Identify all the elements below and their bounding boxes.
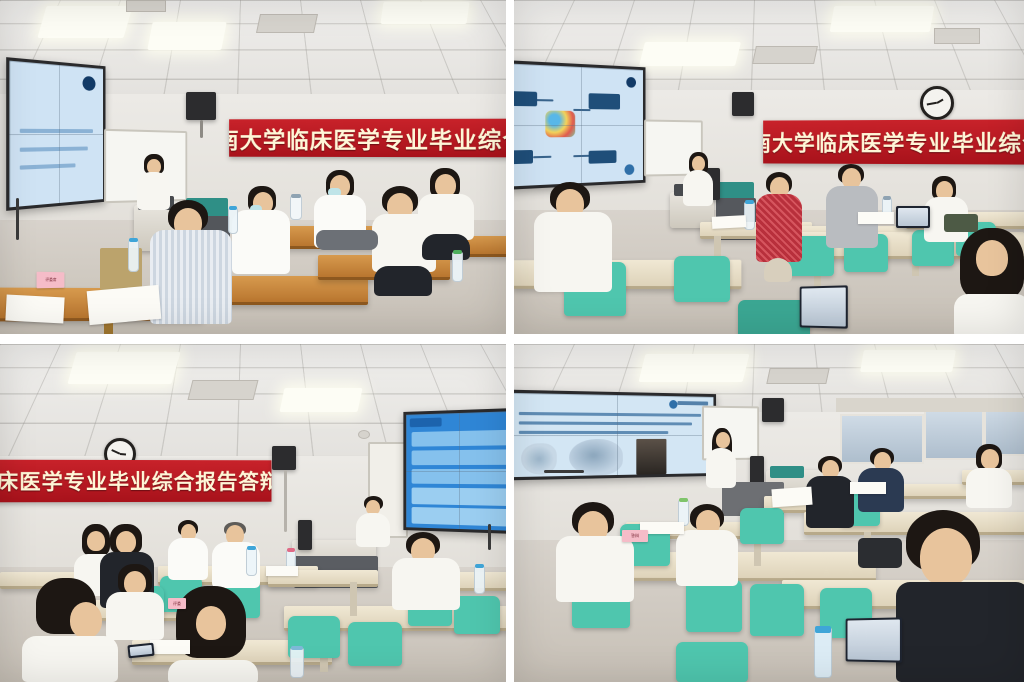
slide-text-line: [20, 129, 93, 133]
torso: [706, 448, 736, 488]
screen-cable: [544, 470, 584, 473]
slide-body-line: [519, 412, 701, 417]
panel-bottom-left[interactable]: 学临床医学专业毕业综合报告答辩会: [0, 344, 506, 682]
equipment-cart: [770, 466, 804, 478]
air-vent: [766, 368, 829, 384]
clock-hand-minute: [112, 450, 121, 455]
bottle-cap: [129, 238, 138, 242]
air-vent: [126, 0, 166, 12]
chair: [454, 596, 500, 634]
document-sheet: [771, 487, 812, 508]
desk-leg: [350, 582, 357, 616]
bottle-cap: [291, 194, 301, 198]
diagram-node: [514, 91, 537, 106]
student-right: [418, 168, 474, 260]
bottle-cap: [475, 564, 484, 568]
evaluator-white-coat: [168, 520, 208, 580]
torso: [676, 530, 738, 586]
diagram-node: [589, 93, 620, 109]
diagram-node: [514, 150, 533, 164]
diagram-connector: [573, 109, 590, 111]
bottle-cap: [815, 626, 831, 633]
head: [196, 606, 226, 640]
presenter-male-student: [356, 496, 390, 558]
ceiling-light: [639, 354, 750, 382]
torso: [168, 660, 258, 682]
document-sheet: [858, 212, 894, 224]
wall-speaker: [272, 446, 296, 470]
speaker-bracket: [200, 120, 203, 138]
screen-cable: [16, 198, 19, 240]
document-sheet: [150, 640, 190, 654]
legs: [374, 266, 432, 296]
banner-text: 江南大学临床医学专业毕业综合报: [229, 121, 506, 156]
ceiling-light: [830, 6, 935, 32]
air-vent: [934, 28, 980, 44]
bag: [944, 214, 978, 232]
diagram-center-graphic: [545, 111, 575, 138]
water-bottle: [128, 240, 139, 272]
clock-hand-minute: [927, 102, 937, 105]
phone-screen: [130, 645, 153, 656]
student-foreground-right: [954, 228, 1024, 334]
bottle-cap: [229, 206, 237, 210]
water-bottle: [814, 628, 832, 678]
audience-far-right: [966, 444, 1012, 508]
evaluator-navy-shirt: [858, 448, 904, 512]
tablet-device[interactable]: [800, 285, 848, 328]
document-sheet: [5, 295, 64, 324]
torso: [966, 468, 1012, 508]
head: [716, 432, 730, 448]
audience-foreground-right: [896, 510, 1024, 682]
tablet-device[interactable]: [846, 617, 902, 662]
tablet-screen: [802, 287, 846, 326]
photo-collage: 江南大学临床医学专业毕业综合报: [0, 0, 1024, 682]
red-banner: 江南大学临床医学专业毕业综合报: [229, 119, 506, 158]
air-vent: [188, 380, 259, 400]
torso: [356, 513, 390, 547]
evaluator-dark-shirt: [806, 456, 854, 528]
slide-row: [412, 488, 506, 506]
ceiling-light: [37, 6, 132, 38]
wall-speaker: [186, 92, 216, 120]
diagram-connector: [535, 99, 553, 101]
air-vent: [256, 14, 318, 33]
chair: [676, 642, 748, 682]
smoke-detector: [358, 430, 370, 439]
torso: [896, 582, 1024, 682]
red-banner: 学临床医学专业毕业综合报告答辩会: [0, 460, 271, 503]
torso: [683, 170, 713, 206]
floor-speaker: [298, 520, 312, 550]
ceiling-light: [67, 352, 180, 384]
cushion: [316, 230, 378, 250]
university-logo-badge: [83, 76, 96, 91]
window-blind[interactable]: [836, 398, 1024, 412]
name-placard: 评委: [168, 598, 186, 609]
tablet-device[interactable]: [896, 206, 930, 228]
slide-title-band: [410, 418, 442, 428]
tablet-screen: [847, 619, 899, 660]
presenter-student: [682, 152, 714, 216]
panel-bottom-right[interactable]: 答辩: [514, 344, 1024, 682]
head: [976, 240, 1008, 276]
chair: [686, 580, 742, 632]
chair: [750, 584, 804, 636]
backpack: [858, 538, 902, 568]
university-logo-badge: [625, 164, 635, 175]
bottle-cap: [287, 548, 295, 552]
screen-cable: [488, 524, 491, 550]
chair: [674, 256, 730, 302]
audience-seated-middle: [106, 564, 164, 640]
slide-row: [412, 507, 506, 527]
mobile-phone[interactable]: [127, 643, 154, 659]
torso: [954, 294, 1024, 334]
torso: [150, 230, 232, 324]
evaluator-grey-shirt: [826, 164, 878, 248]
evaluator-white-coat: [232, 186, 290, 274]
head: [70, 602, 102, 638]
evaluator-red-dress: [754, 172, 804, 282]
ceiling-light: [147, 22, 226, 50]
torso: [106, 592, 164, 640]
presentation-screen[interactable]: [403, 408, 506, 534]
water-bottle: [452, 252, 463, 282]
wall-clock: [920, 86, 954, 120]
bottle-cap: [291, 646, 303, 650]
diagram-node: [589, 150, 617, 164]
slide-row: [412, 449, 506, 465]
bottle-cap: [745, 200, 754, 204]
name-placard: 答辩: [622, 530, 648, 542]
document-sheet: [712, 215, 747, 229]
name-placard: 评委席: [37, 272, 65, 289]
water-bottle: [290, 648, 304, 678]
torso: [168, 538, 208, 580]
diagram-connector: [533, 156, 551, 159]
torso: [22, 636, 118, 682]
clock-hand-hour: [120, 453, 126, 456]
chair: [348, 622, 402, 666]
ceiling-light: [380, 2, 469, 24]
clock-hand-hour: [937, 99, 944, 104]
slide-row: [412, 469, 506, 484]
head: [981, 449, 999, 469]
seated-man-left: [556, 502, 634, 602]
slide-body-line: [519, 421, 692, 425]
speaker-pole: [284, 470, 287, 532]
chair: [740, 508, 784, 544]
water-bottle: [228, 208, 238, 234]
placard-text: 答辩: [631, 533, 639, 539]
bottle-cap: [247, 546, 256, 550]
tablet-screen: [898, 208, 928, 226]
video-wall-screen[interactable]: [514, 390, 716, 481]
banner-text: 学临床医学专业毕业综合报告答辩会: [0, 466, 271, 497]
document-sheet: [87, 285, 162, 325]
head: [692, 156, 705, 171]
panel-top-right[interactable]: 江南大学临床医学专业毕业综合报: [514, 0, 1024, 334]
document-sheet: [850, 482, 886, 494]
university-logo-badge: [626, 77, 636, 88]
head: [116, 531, 136, 553]
slide-body-line: [519, 431, 668, 434]
document-sheet: [266, 566, 298, 576]
torso: [534, 212, 612, 292]
hospital-logo-badge: [669, 400, 677, 409]
legs: [764, 258, 792, 282]
banner-text: 江南大学临床医学专业毕业综合报: [763, 125, 1024, 158]
seated-man-foreground: [534, 182, 612, 292]
torso: [756, 194, 802, 262]
bottle-cap: [453, 250, 462, 254]
torso: [392, 558, 460, 610]
slide-text-line: [20, 147, 88, 152]
torso: [806, 476, 854, 528]
wall-speaker: [732, 92, 754, 116]
audience-right: [392, 532, 460, 610]
hand-sanitizer: [290, 196, 302, 220]
air-vent: [752, 46, 818, 64]
torso: [556, 536, 634, 602]
placard-text: 评委席: [45, 277, 56, 283]
slide-row: [412, 430, 506, 447]
water-bottle: [474, 566, 485, 594]
panel-top-left[interactable]: 江南大学临床医学专业毕业综合报: [0, 0, 506, 334]
ceiling-light: [639, 42, 741, 66]
head: [920, 528, 972, 586]
torso: [232, 210, 290, 274]
wall-speaker: [762, 398, 784, 422]
placard-text: 评委: [173, 601, 181, 607]
ceiling-light: [860, 350, 956, 372]
video-wall-screen[interactable]: [514, 60, 646, 189]
red-banner: 江南大学临床医学专业毕业综合报: [763, 119, 1024, 164]
water-bottle: [246, 548, 257, 576]
audience-foreground-left: [22, 578, 118, 682]
presentation-screen[interactable]: [6, 57, 105, 211]
ceiling-light: [279, 388, 362, 412]
bottle-cap: [883, 196, 891, 200]
bottle-cap: [679, 498, 688, 502]
presenter-female-student: [704, 428, 738, 504]
portrait-photo: [636, 439, 666, 475]
seated-person-foreground: [150, 200, 232, 324]
slide-text-line: [20, 163, 76, 169]
